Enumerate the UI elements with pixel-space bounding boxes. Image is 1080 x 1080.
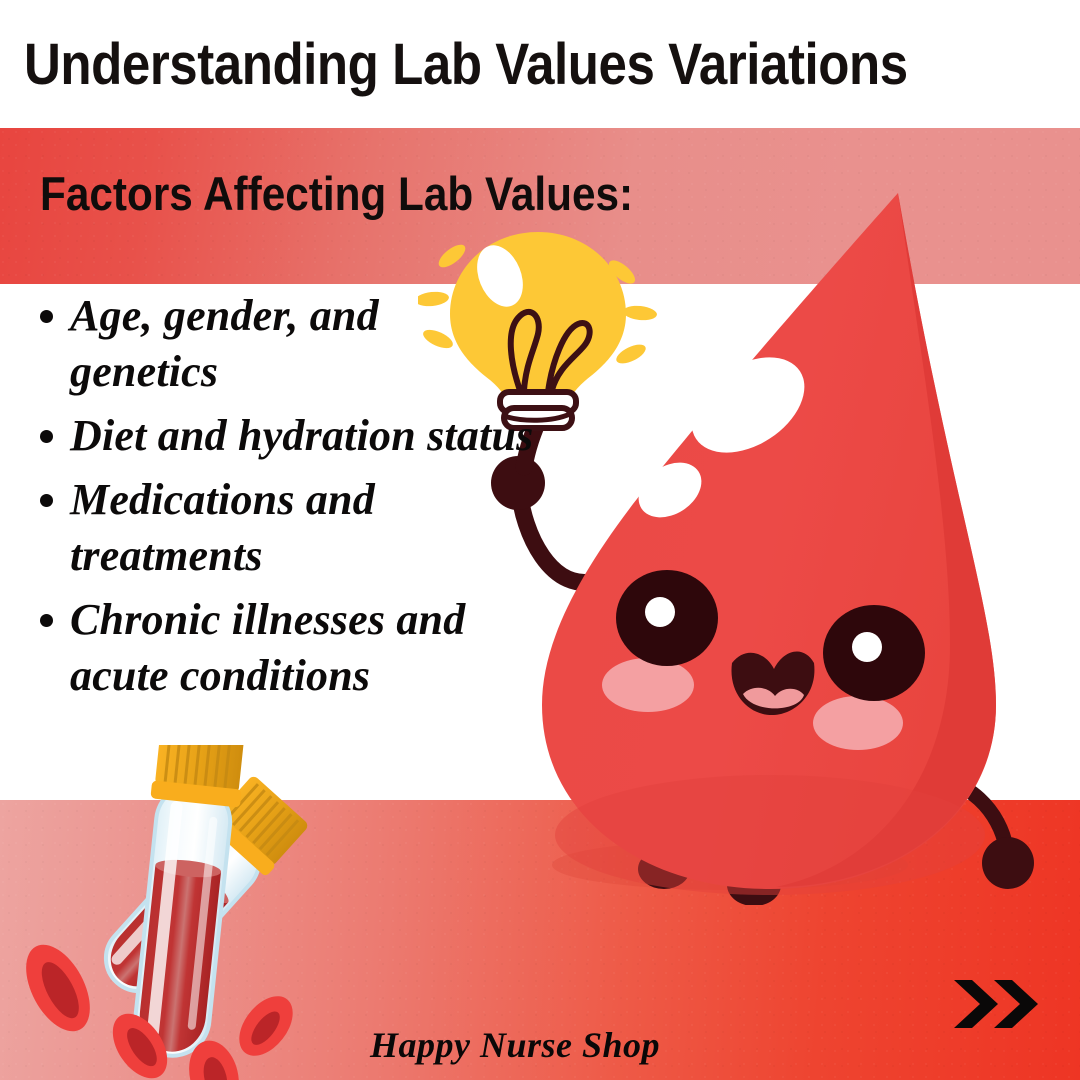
poster-canvas: Understanding Lab Values Variations Fact…: [0, 0, 1080, 1080]
factors-list: Age, gender, and genetics Diet and hydra…: [18, 288, 538, 712]
bullet-dot-icon: [40, 494, 53, 507]
list-item-label: Medications and treatments: [70, 475, 375, 580]
brand-watermark: Happy Nurse Shop: [370, 1023, 660, 1067]
list-item: Chronic illnesses and acute conditions: [18, 592, 538, 704]
page-title: Understanding Lab Values Variations: [24, 28, 930, 104]
list-item: Diet and hydration status: [18, 408, 538, 464]
bullet-dot-icon: [40, 310, 53, 323]
list-item-label: Chronic illnesses and acute conditions: [70, 595, 465, 700]
list-item-label: Diet and hydration status: [70, 411, 533, 460]
bullet-dot-icon: [40, 430, 53, 443]
list-item-label: Age, gender, and genetics: [70, 291, 379, 396]
red-blood-cells-icon: [0, 930, 400, 1080]
list-item: Medications and treatments: [18, 472, 538, 584]
bullet-dot-icon: [40, 614, 53, 627]
list-item: Age, gender, and genetics: [18, 288, 538, 400]
double-chevron-right-icon[interactable]: [950, 976, 1042, 1032]
